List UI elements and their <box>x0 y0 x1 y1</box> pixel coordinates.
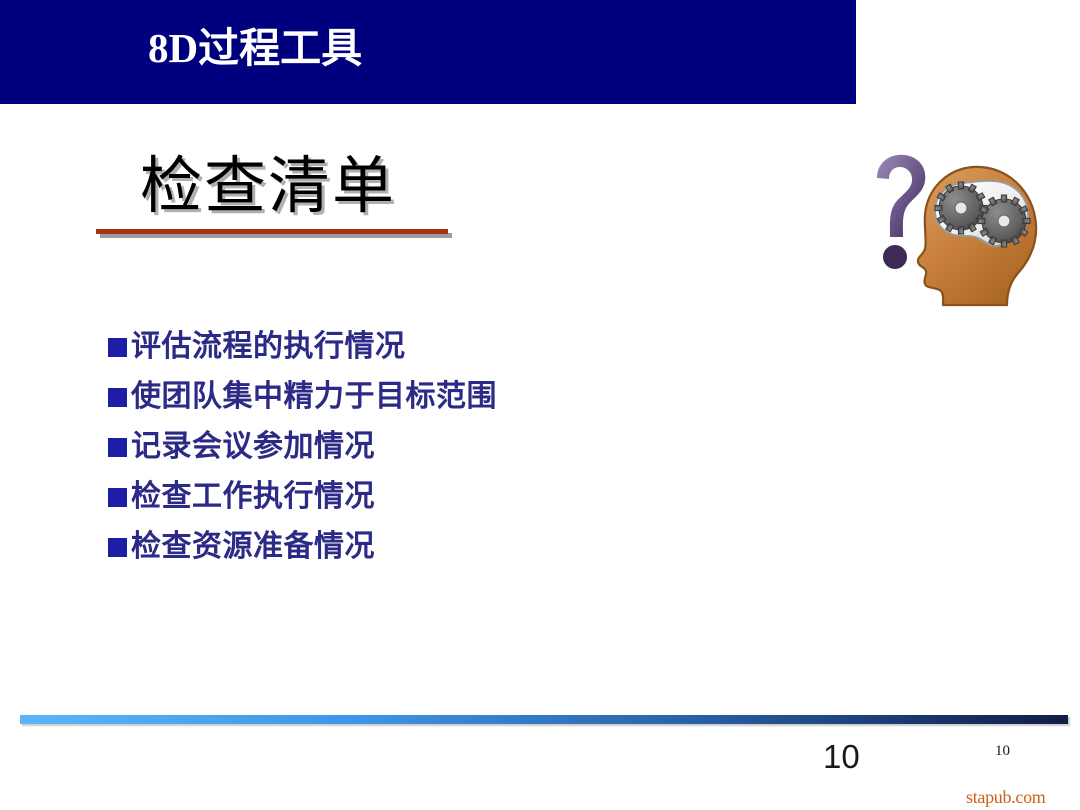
square-bullet-icon <box>108 488 127 507</box>
square-bullet-icon <box>108 338 127 357</box>
thinking-head-gears-icon <box>855 145 1060 310</box>
slide-canvas: 8D过程工具 检查清单 评估流程的执行情况 使团队集中精力于目标范围 记录会议参… <box>0 0 1080 810</box>
site-watermark: stapub.com <box>966 786 1046 808</box>
list-item-label: 记录会议参加情况 <box>131 429 375 465</box>
list-item: 评估流程的执行情况 <box>108 322 748 372</box>
list-item-label: 使团队集中精力于目标范围 <box>131 379 497 415</box>
header-band <box>0 0 856 104</box>
list-item: 检查资源准备情况 <box>108 522 748 572</box>
square-bullet-icon <box>108 388 127 407</box>
title-underline-rule <box>96 229 448 234</box>
list-item-label: 评估流程的执行情况 <box>131 329 406 365</box>
list-item-label: 检查工作执行情况 <box>131 479 375 515</box>
page-title: 检查清单 <box>140 150 396 224</box>
question-mark-icon <box>877 155 925 269</box>
square-bullet-icon <box>108 438 127 457</box>
list-item-label: 检查资源准备情况 <box>131 529 375 565</box>
header-title: 8D过程工具 <box>148 22 362 74</box>
footer-gradient-bar <box>20 715 1068 724</box>
checklist-bullet-list: 评估流程的执行情况 使团队集中精力于目标范围 记录会议参加情况 检查工作执行情况… <box>108 322 748 572</box>
page-number-small: 10 <box>995 742 1010 760</box>
square-bullet-icon <box>108 538 127 557</box>
list-item: 使团队集中精力于目标范围 <box>108 372 748 422</box>
list-item: 记录会议参加情况 <box>108 422 748 472</box>
page-number-large: 10 <box>823 738 860 776</box>
list-item: 检查工作执行情况 <box>108 472 748 522</box>
